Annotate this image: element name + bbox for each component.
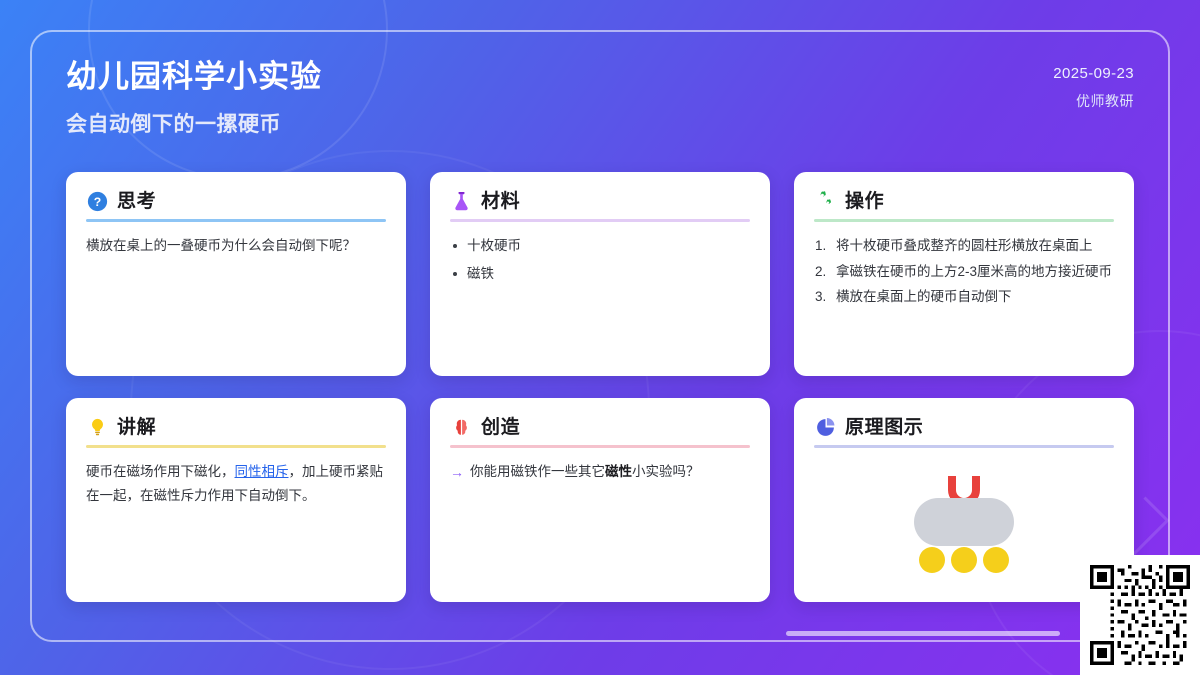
card-title: 创造 <box>481 418 520 437</box>
brain-icon <box>450 416 472 438</box>
progress-bar-track[interactable] <box>786 631 1060 636</box>
card-header: 操作 <box>814 190 1114 219</box>
coin <box>919 547 945 573</box>
qr-code-image <box>1090 565 1190 665</box>
card-title: 材料 <box>481 192 520 211</box>
card-header: 材料 <box>450 190 750 219</box>
creation-part-bold: 磁性 <box>605 464 632 479</box>
meta-block: 2025-09-23 优师教研 <box>1053 56 1134 111</box>
flask-icon <box>450 190 472 212</box>
card-operation[interactable]: 操作 将十枚硬币叠成整齐的圆柱形横放在桌面上 拿磁铁在硬币的上方2-3厘米高的地… <box>794 172 1134 376</box>
card-body <box>814 460 1114 586</box>
svg-text:?: ? <box>93 194 100 208</box>
card-accent-rule <box>86 445 386 448</box>
card-header: 创造 <box>450 416 750 445</box>
question-circle-icon: ? <box>86 190 108 212</box>
page-subtitle: 会自动倒下的一摞硬币 <box>66 108 322 138</box>
card-title: 操作 <box>845 192 884 211</box>
card-title: 讲解 <box>117 418 156 437</box>
organization-label: 优师教研 <box>1053 91 1134 111</box>
list-item: 你能用磁铁作一些其它磁性小实验吗？ <box>450 460 750 484</box>
list-item: 将十枚硬币叠成整齐的圆柱形横放在桌面上 <box>814 234 1114 258</box>
explanation-link[interactable]: 同性相斥 <box>235 464 289 479</box>
card-accent-rule <box>814 445 1114 448</box>
card-body: 你能用磁铁作一些其它磁性小实验吗？ <box>450 460 750 484</box>
coin <box>983 547 1009 573</box>
explanation-text: 硬币在磁场作用下磁化，同性相斥，加上硬币紧贴在一起，在磁性斥力作用下自动倒下。 <box>86 460 386 507</box>
creation-part-1: 你能用磁铁作一些其它 <box>470 464 605 479</box>
card-accent-rule <box>450 445 750 448</box>
card-title: 思考 <box>117 192 156 211</box>
progress-bar-fill <box>786 631 1060 636</box>
card-accent-rule <box>450 219 750 222</box>
principle-illustration <box>884 476 1044 586</box>
list-item: 拿磁铁在硬币的上方2-3厘米高的地方接近硬币 <box>814 260 1114 284</box>
card-body: 将十枚硬币叠成整齐的圆柱形横放在桌面上 拿磁铁在硬币的上方2-3厘米高的地方接近… <box>814 234 1114 309</box>
lightbulb-icon <box>86 416 108 438</box>
creation-prompt-list: 你能用磁铁作一些其它磁性小实验吗？ <box>450 460 750 484</box>
materials-list: 十枚硬币 磁铁 <box>450 234 750 285</box>
card-thinking[interactable]: ? 思考 横放在桌上的一叠硬币为什么会自动倒下呢？ <box>66 172 406 376</box>
card-body: 硬币在磁场作用下磁化，同性相斥，加上硬币紧贴在一起，在磁性斥力作用下自动倒下。 <box>86 460 386 507</box>
card-grid: ? 思考 横放在桌上的一叠硬币为什么会自动倒下呢？ 材料 十枚硬币 磁铁 <box>66 172 1134 602</box>
creation-part-2: 小实验吗？ <box>632 464 700 479</box>
qr-code[interactable] <box>1080 555 1200 675</box>
thinking-question: 横放在桌上的一叠硬币为什么会自动倒下呢？ <box>86 234 386 258</box>
card-explanation[interactable]: 讲解 硬币在磁场作用下磁化，同性相斥，加上硬币紧贴在一起，在磁性斥力作用下自动倒… <box>66 398 406 602</box>
card-title: 原理图示 <box>845 418 923 437</box>
card-body: 十枚硬币 磁铁 <box>450 234 750 285</box>
card-accent-rule <box>86 219 386 222</box>
page-title: 幼儿园科学小实验 <box>66 58 322 97</box>
card-accent-rule <box>814 219 1114 222</box>
card-header: 讲解 <box>86 416 386 445</box>
card-header: ? 思考 <box>86 190 386 219</box>
title-block: 幼儿园科学小实验 会自动倒下的一摞硬币 <box>66 56 322 138</box>
gears-icon <box>814 190 836 212</box>
card-body: 横放在桌上的一叠硬币为什么会自动倒下呢？ <box>86 234 386 258</box>
explanation-part-1: 硬币在磁场作用下磁化， <box>86 464 235 479</box>
coin <box>951 547 977 573</box>
card-creation[interactable]: 创造 你能用磁铁作一些其它磁性小实验吗？ <box>430 398 770 602</box>
list-item: 十枚硬币 <box>450 234 750 258</box>
card-header: 原理图示 <box>814 416 1114 445</box>
list-item: 磁铁 <box>450 262 750 286</box>
pie-chart-icon <box>814 416 836 438</box>
list-item: 横放在桌面上的硬币自动倒下 <box>814 285 1114 309</box>
date-label: 2025-09-23 <box>1053 65 1134 82</box>
card-materials[interactable]: 材料 十枚硬币 磁铁 <box>430 172 770 376</box>
coin-stack-body <box>914 498 1014 546</box>
operation-steps: 将十枚硬币叠成整齐的圆柱形横放在桌面上 拿磁铁在硬币的上方2-3厘米高的地方接近… <box>814 234 1114 309</box>
slide-header: 幼儿园科学小实验 会自动倒下的一摞硬币 2025-09-23 优师教研 <box>66 56 1134 138</box>
